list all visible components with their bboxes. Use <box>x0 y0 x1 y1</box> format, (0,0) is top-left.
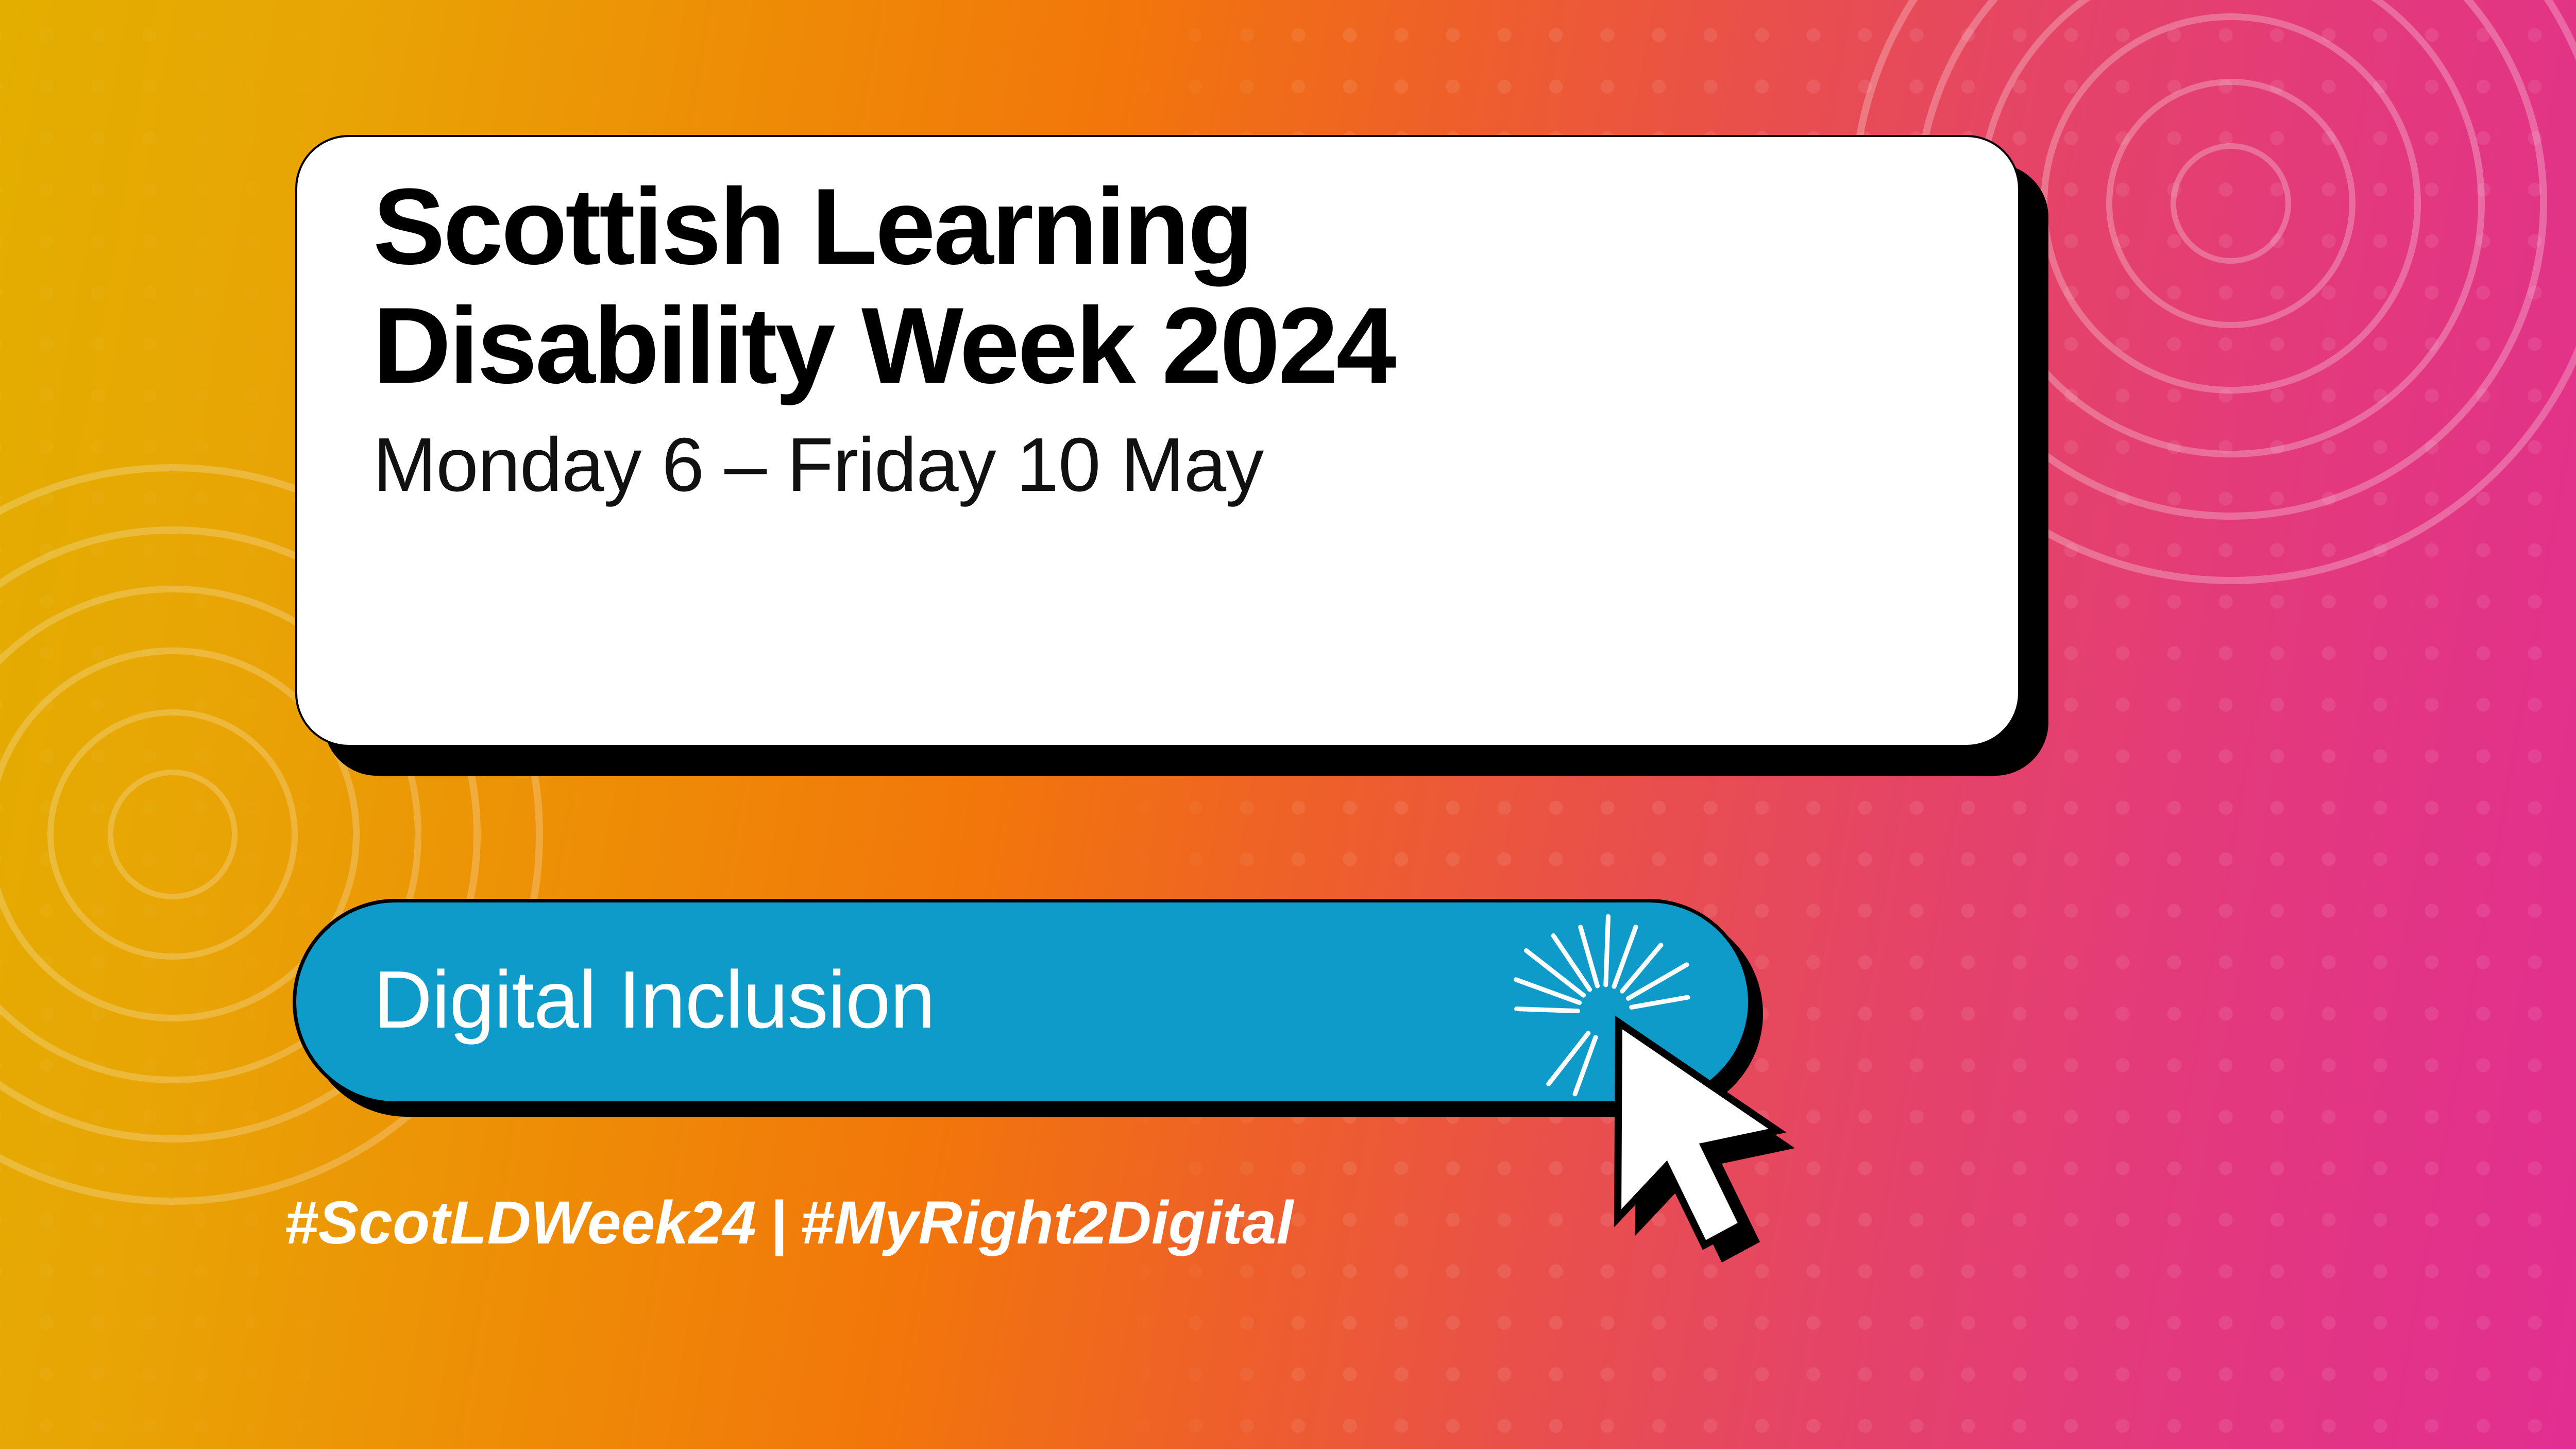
theme-button-label: Digital Inclusion <box>374 953 935 1047</box>
hashtag-line: #ScotLDWeek24|#MyRight2Digital <box>284 1188 1293 1258</box>
headline-card: Scottish Learning Disability Week 2024 M… <box>295 135 2020 747</box>
hashtag-secondary: #MyRight2Digital <box>800 1189 1293 1257</box>
page-title-line-2: Disability Week 2024 <box>373 286 1987 405</box>
mouse-cursor-icon <box>1540 992 1829 1280</box>
hashtag-separator: | <box>756 1189 800 1257</box>
event-dates: Monday 6 – Friday 10 May <box>373 423 1987 507</box>
hashtag-primary: #ScotLDWeek24 <box>284 1189 756 1257</box>
page-title-line-1: Scottish Learning <box>373 167 1987 286</box>
poster-canvas: Scottish Learning Disability Week 2024 M… <box>0 0 2576 1449</box>
theme-button[interactable]: Digital Inclusion <box>293 899 1752 1105</box>
